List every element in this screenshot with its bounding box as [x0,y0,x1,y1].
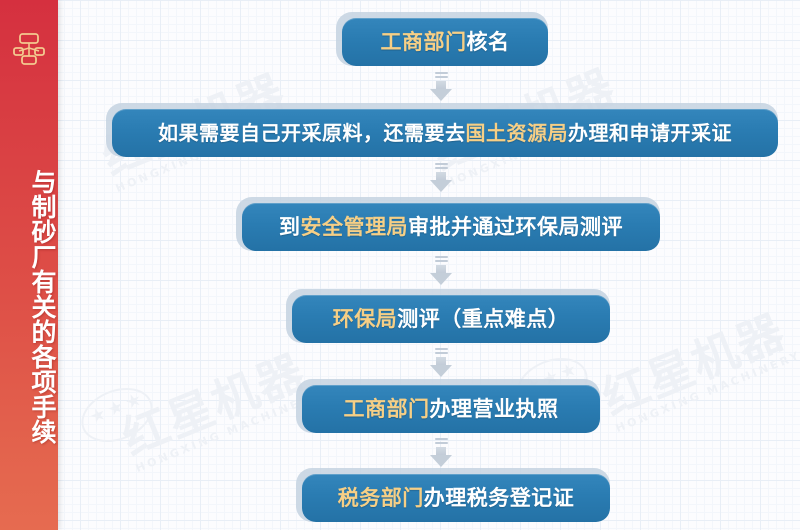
connector-arrow-5 [430,438,452,467]
node-label: 税务部门办理税务登记证 [338,488,575,509]
graph-paper-background [0,0,800,530]
arrow-dash [435,76,448,78]
node-label-highlight: 税务部门 [338,486,424,510]
node-label-plain: 办理税务登记证 [424,486,575,510]
arrow-head-icon [430,172,452,192]
node-label-plain: 审批并通过环保局测评 [408,215,623,239]
node-body: 税务部门办理税务登记证 [302,474,610,522]
node-label-highlight: 工商部门 [381,30,467,54]
arrow-dash [435,167,448,169]
flow-node-6[interactable]: 税务部门办理税务登记证 [296,468,610,522]
flow-node-5[interactable]: 工商部门办理营业执照 [296,379,600,433]
flow-node-2[interactable]: 如果需要自己开采原料，还需要去国土资源局办理和申请开采证 [106,103,778,157]
arrow-head-icon [430,81,452,101]
node-label-highlight: 工商部门 [344,397,430,421]
flow-node-1[interactable]: 工商部门核名 [336,12,548,66]
arrow-dash [435,352,448,354]
node-body: 环保局测评（重点难点） [292,295,610,343]
node-label: 环保局测评（重点难点） [333,309,570,330]
node-label: 工商部门核名 [381,32,510,53]
node-label: 工商部门办理营业执照 [344,399,559,420]
arrow-dash [435,348,448,350]
node-label-plain: 如果需要自己开采原料，还需要去 [158,121,466,145]
left-banner: 与制砂厂有关的各项手续 [0,0,58,530]
arrow-dash [435,163,448,165]
arrow-dash [435,256,448,258]
node-body: 到安全管理局审批并通过环保局测评 [242,203,660,251]
node-label-highlight: 环保局 [333,307,398,331]
connector-arrow-2 [430,163,452,192]
node-label-highlight: 安全管理局 [301,215,409,239]
connector-arrow-4 [430,348,452,377]
node-label: 到安全管理局审批并通过环保局测评 [279,217,623,238]
flowchart-page: 红星机器 HONGXING MACHINERY 红星机器 HONGXING MA… [0,0,800,530]
node-label-plain: 办理营业执照 [430,397,559,421]
node-label: 如果需要自己开采原料，还需要去国土资源局办理和申请开采证 [158,123,732,143]
arrow-dash [435,438,448,440]
node-label-plain: 到 [279,215,301,239]
arrow-dash [435,442,448,444]
node-label-plain: 测评（重点难点） [397,307,569,331]
node-body: 如果需要自己开采原料，还需要去国土资源局办理和申请开采证 [112,109,778,157]
arrow-head-icon [430,357,452,377]
flowchart-icon [13,32,45,66]
node-body: 工商部门办理营业执照 [302,385,600,433]
arrow-head-icon [430,447,452,467]
connector-arrow-1 [430,72,452,101]
arrow-head-icon [430,265,452,285]
arrow-dash [435,72,448,74]
node-body: 工商部门核名 [342,18,548,66]
node-label-highlight: 国土资源局 [466,121,569,145]
connector-arrow-3 [430,256,452,285]
node-label-plain: 核名 [467,30,510,54]
arrow-dash [435,260,448,262]
node-label-plain: 办理和申请开采证 [568,121,732,145]
flow-node-4[interactable]: 环保局测评（重点难点） [286,289,610,343]
flow-node-3[interactable]: 到安全管理局审批并通过环保局测评 [236,197,660,251]
banner-title: 与制砂厂有关的各项手续 [0,96,58,516]
